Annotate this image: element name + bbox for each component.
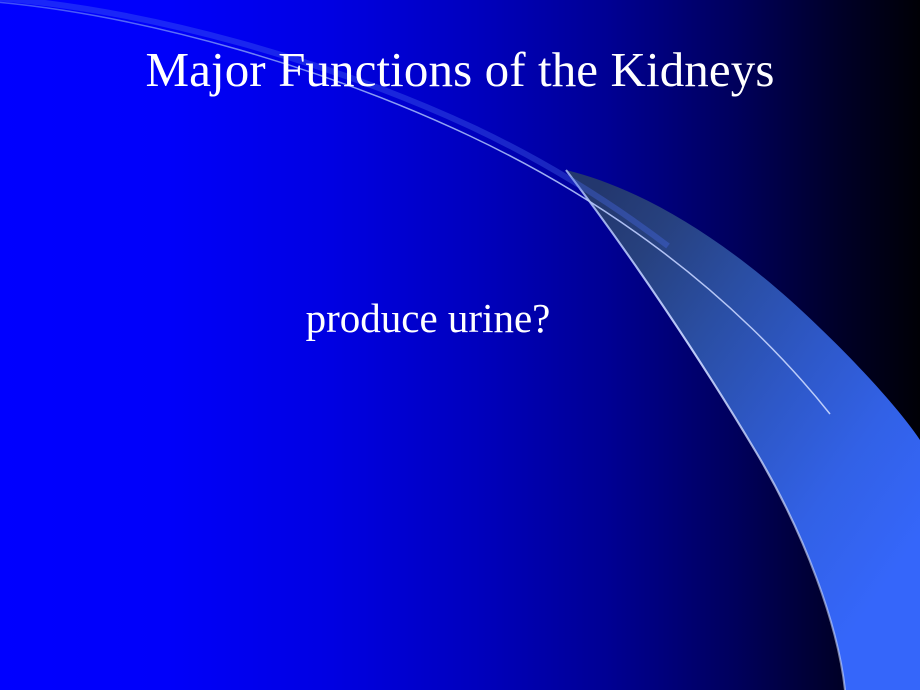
slide-text-layer: Major Functions of the Kidneys produce u…	[0, 0, 920, 690]
presentation-slide: Major Functions of the Kidneys produce u…	[0, 0, 920, 690]
slide-body-text: produce urine?	[0, 296, 856, 341]
page-title: Major Functions of the Kidneys	[0, 44, 920, 97]
